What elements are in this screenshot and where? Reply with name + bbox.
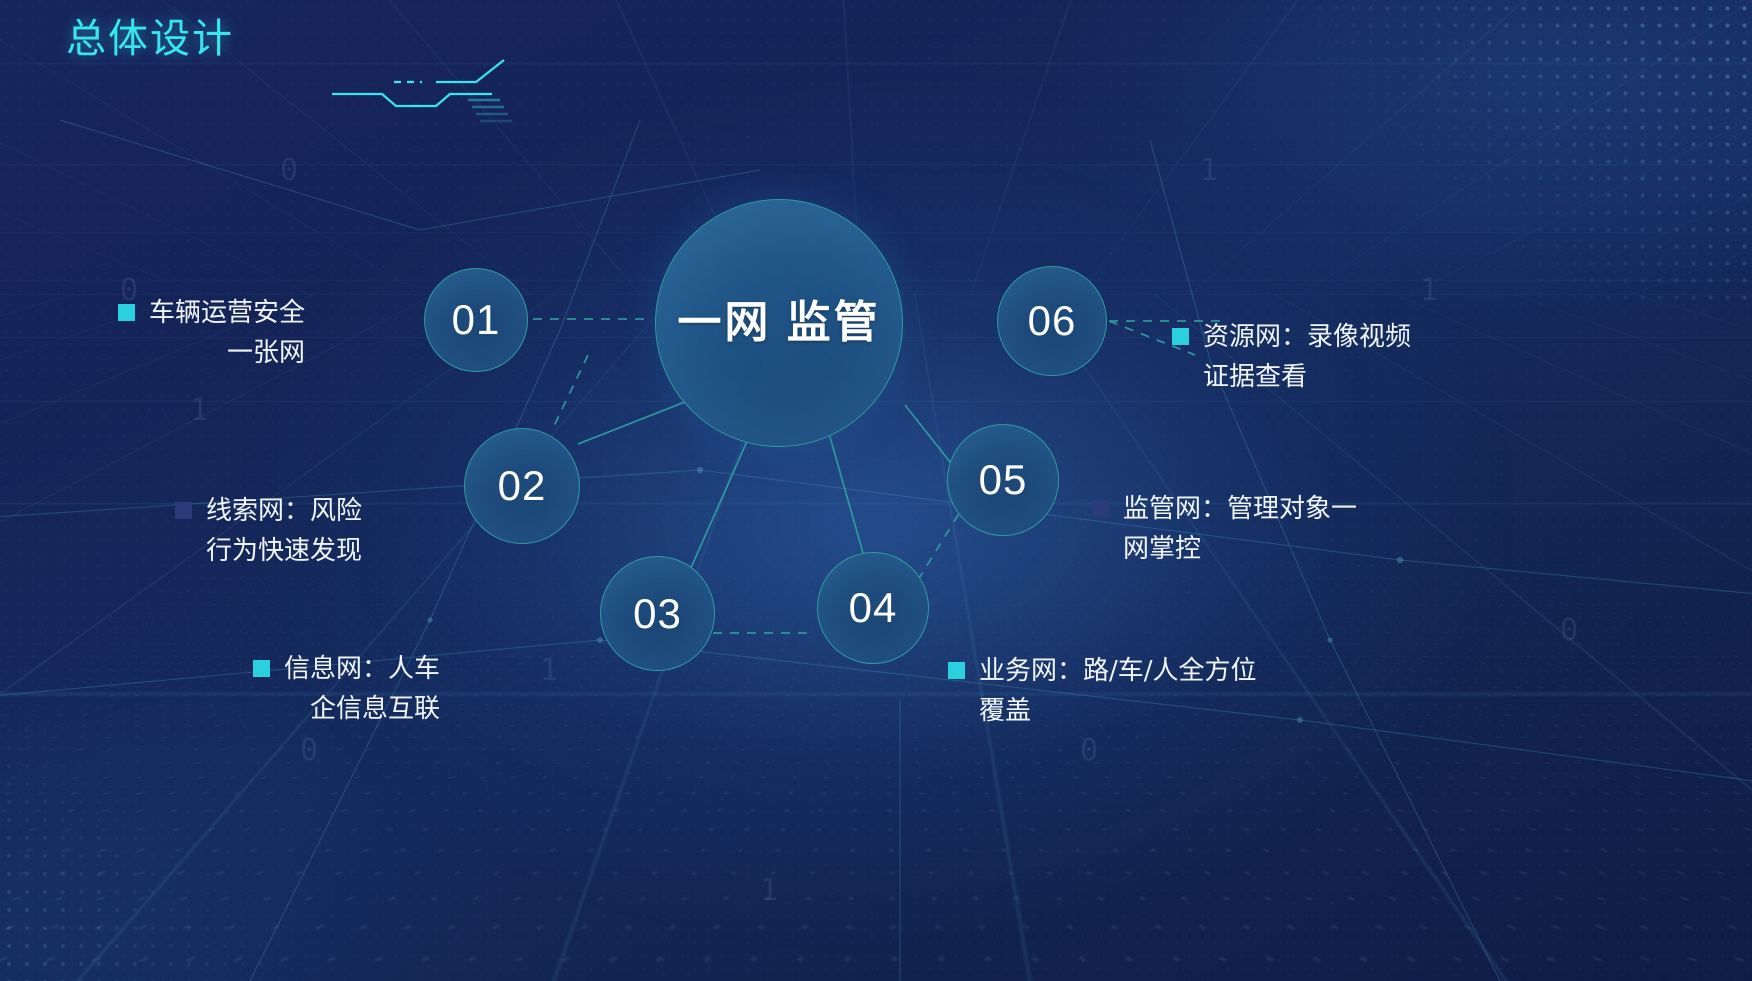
connector-02-hub bbox=[578, 398, 695, 444]
bullet-square-icon bbox=[175, 502, 192, 519]
label-02: 线索网：风险 行为快速发现 bbox=[175, 492, 362, 571]
node-02[interactable]: 02 bbox=[464, 428, 580, 544]
node-06[interactable]: 06 bbox=[997, 266, 1107, 376]
node-05[interactable]: 05 bbox=[947, 424, 1059, 536]
bullet-square-icon bbox=[118, 304, 135, 321]
hub-node[interactable]: 一网 监管 bbox=[655, 199, 903, 447]
node-04-number: 04 bbox=[849, 584, 898, 632]
label-02-text: 线索网：风险 行为快速发现 bbox=[206, 492, 362, 571]
slide-canvas: 01 01 01 01 01 总体设计 bbox=[0, 0, 1752, 981]
diagram-connectors bbox=[0, 0, 1752, 981]
node-06-number: 06 bbox=[1028, 297, 1077, 345]
node-02-number: 02 bbox=[498, 462, 547, 510]
node-03-number: 03 bbox=[633, 590, 682, 638]
bullet-square-icon bbox=[253, 660, 270, 677]
label-03-text: 信息网：人车 企信息互联 bbox=[284, 650, 440, 729]
node-01[interactable]: 01 bbox=[424, 268, 528, 372]
label-04: 业务网：路/车/人全方位 覆盖 bbox=[948, 652, 1257, 731]
connector-04-hub bbox=[828, 430, 865, 560]
bullet-square-icon bbox=[1092, 500, 1109, 517]
node-05-number: 05 bbox=[979, 456, 1028, 504]
node-03[interactable]: 03 bbox=[600, 556, 715, 671]
hub-label: 一网 监管 bbox=[677, 296, 880, 350]
connector-03-hub bbox=[690, 430, 752, 570]
label-05-text: 监管网：管理对象一 网掌控 bbox=[1123, 490, 1357, 569]
node-01-number: 01 bbox=[452, 296, 501, 344]
label-05: 监管网：管理对象一 网掌控 bbox=[1092, 490, 1357, 569]
node-04[interactable]: 04 bbox=[817, 552, 929, 664]
label-03: 信息网：人车 企信息互联 bbox=[253, 650, 440, 729]
label-06-text: 资源网：录像视频 证据查看 bbox=[1203, 318, 1411, 397]
label-01: 车辆运营安全 一张网 bbox=[118, 294, 305, 373]
label-04-text: 业务网：路/车/人全方位 覆盖 bbox=[979, 652, 1257, 731]
connector-04-05 bbox=[918, 512, 960, 580]
connector-01-02 bbox=[553, 355, 588, 428]
bullet-square-icon bbox=[948, 662, 965, 679]
label-06: 资源网：录像视频 证据查看 bbox=[1172, 318, 1411, 397]
label-01-text: 车辆运营安全 一张网 bbox=[149, 294, 305, 373]
bullet-square-icon bbox=[1172, 328, 1189, 345]
